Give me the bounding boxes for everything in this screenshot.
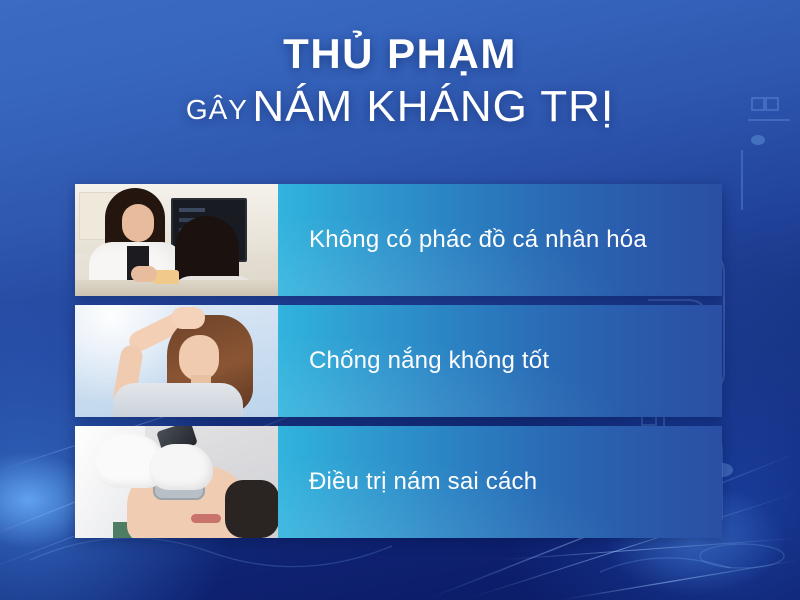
list-item[interactable]: Chống nắng không tốt xyxy=(75,305,722,417)
poster-title: THỦ PHẠM GÂY NÁM KHÁNG TRỊ xyxy=(0,28,800,144)
row-image-doctor-consultation xyxy=(75,184,278,296)
list-item-label: Chống nắng không tốt xyxy=(278,347,549,375)
row-image-sun-protection xyxy=(75,305,278,417)
poster-canvas: THỦ PHẠM GÂY NÁM KHÁNG TRỊ Không có phác… xyxy=(0,0,800,600)
list-item-label: Điều trị nám sai cách xyxy=(278,468,537,496)
list-item[interactable]: Không có phác đồ cá nhân hóa xyxy=(75,184,722,296)
row-image-laser-treatment xyxy=(75,426,278,538)
title-line-1: THỦ PHẠM xyxy=(0,28,800,80)
list-item-label: Không có phác đồ cá nhân hóa xyxy=(278,226,647,254)
title-line-2-prefix: GÂY xyxy=(186,94,248,125)
row-label-band: Điều trị nám sai cách xyxy=(278,426,722,538)
row-label-band: Không có phác đồ cá nhân hóa xyxy=(278,184,722,296)
list-item[interactable]: Điều trị nám sai cách xyxy=(75,426,722,538)
cause-list: Không có phác đồ cá nhân hóa Chống nắng … xyxy=(75,184,722,538)
row-label-band: Chống nắng không tốt xyxy=(278,305,722,417)
title-line-2-main: NÁM KHÁNG TRỊ xyxy=(252,82,614,131)
title-line-2: GÂY NÁM KHÁNG TRỊ xyxy=(0,80,800,144)
